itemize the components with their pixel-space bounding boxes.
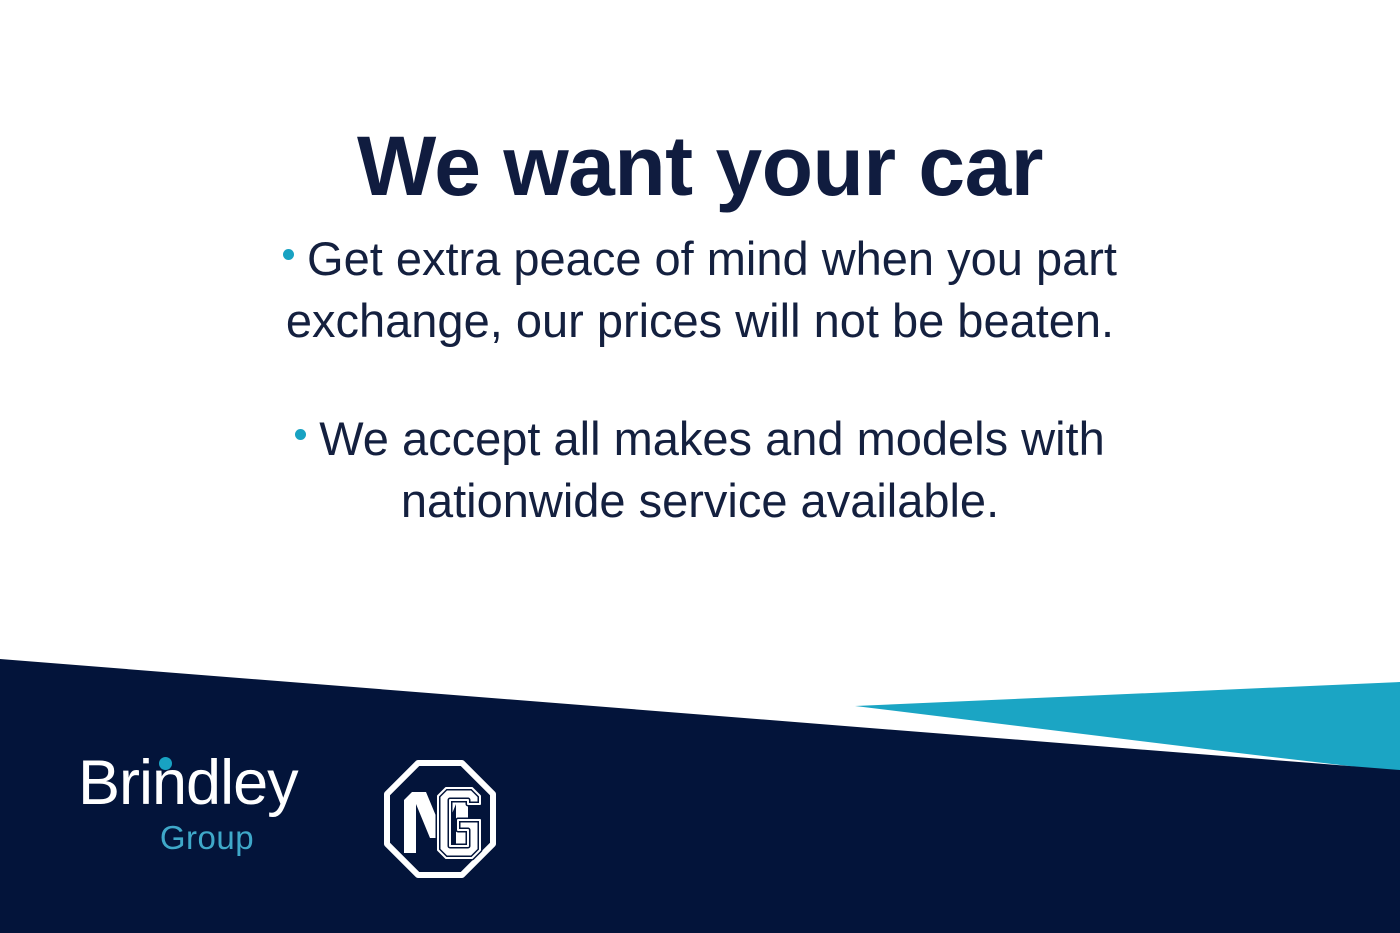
bullet-text-line-1: Get extra peace of mind when you part [307,232,1117,285]
list-item: Get extra peace of mind when you part ex… [190,228,1210,352]
brindley-accent-dot-icon [159,757,172,770]
page-title: We want your car [0,124,1400,210]
bullet-text-line-2: exchange, our prices will not be beaten. [286,294,1114,347]
brindley-wordmark: Brindley [78,752,336,815]
brindley-subtitle: Group [78,821,336,854]
bullet-dot-icon [283,249,294,260]
brindley-group-logo: Brindley Group [78,752,336,854]
list-item: We accept all makes and models with nati… [190,408,1210,532]
bullet-text-line-2: nationwide service available. [401,474,999,527]
teal-wedge [855,682,1400,772]
mg-logo-icon [384,760,496,878]
bullet-line: Get extra peace of mind when you part [283,232,1117,285]
bullet-text-line-1: We accept all makes and models with [319,412,1104,465]
bullet-list: Get extra peace of mind when you part ex… [190,228,1210,532]
bullet-line: We accept all makes and models with [295,412,1104,465]
footer-logo-row: Brindley Group [78,752,496,878]
bullet-dot-icon [295,429,306,440]
promotional-slide: We want your car Get extra peace of mind… [0,0,1400,933]
